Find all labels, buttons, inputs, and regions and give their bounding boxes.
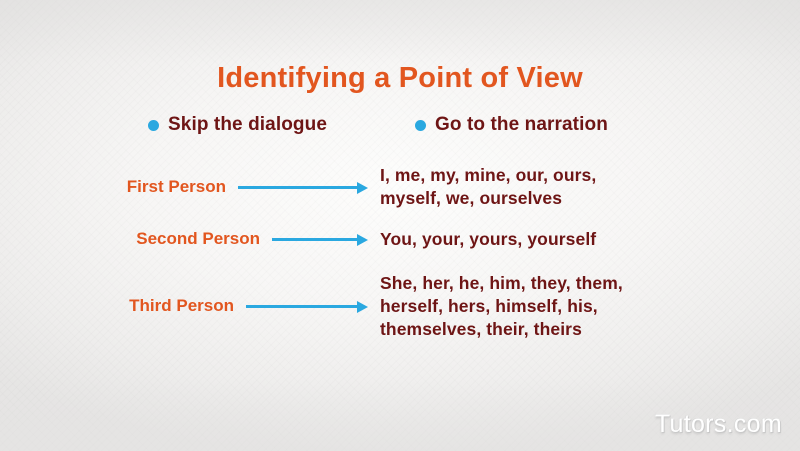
- arrow-right-icon: [246, 300, 368, 312]
- bullet-dot-icon: [415, 120, 426, 131]
- arrow-shaft: [272, 238, 359, 241]
- pronoun-list-third-person: She, her, he, him, they, them, herself, …: [380, 272, 623, 341]
- arrow-shaft: [238, 186, 359, 189]
- pronoun-list-first-person: I, me, my, mine, our, ours, myself, we, …: [380, 164, 596, 210]
- page-title: Identifying a Point of View: [0, 62, 800, 95]
- watermark-logo: Tutors.com: [655, 410, 782, 439]
- pronoun-list-second-person: You, your, yours, yourself: [380, 228, 596, 251]
- pov-label-first-person: First Person: [0, 177, 238, 197]
- bullet-dot-icon: [148, 120, 159, 131]
- pov-label-second-person: Second Person: [0, 229, 272, 249]
- pov-row-first-person: First Person I, me, my, mine, our, ours,…: [0, 162, 800, 212]
- slide-canvas: Identifying a Point of View Skip the dia…: [0, 0, 800, 451]
- arrow-shaft: [246, 305, 359, 308]
- pov-row-third-person: Third Person She, her, he, him, they, th…: [0, 268, 800, 344]
- bullet-item-go-to-narration: Go to the narration: [415, 114, 608, 136]
- arrow-head: [357, 234, 368, 246]
- pov-row-second-person: Second Person You, your, yours, yourself: [0, 224, 800, 254]
- bullet-label: Skip the dialogue: [168, 114, 327, 136]
- arrow-head: [357, 301, 368, 313]
- instruction-bullet-list: Skip the dialogue Go to the narration: [148, 114, 688, 136]
- arrow-right-icon: [272, 233, 368, 245]
- bullet-item-skip-dialogue: Skip the dialogue: [148, 114, 327, 136]
- arrow-right-icon: [238, 181, 368, 193]
- bullet-label: Go to the narration: [435, 114, 608, 136]
- pov-label-third-person: Third Person: [0, 296, 246, 316]
- arrow-head: [357, 182, 368, 194]
